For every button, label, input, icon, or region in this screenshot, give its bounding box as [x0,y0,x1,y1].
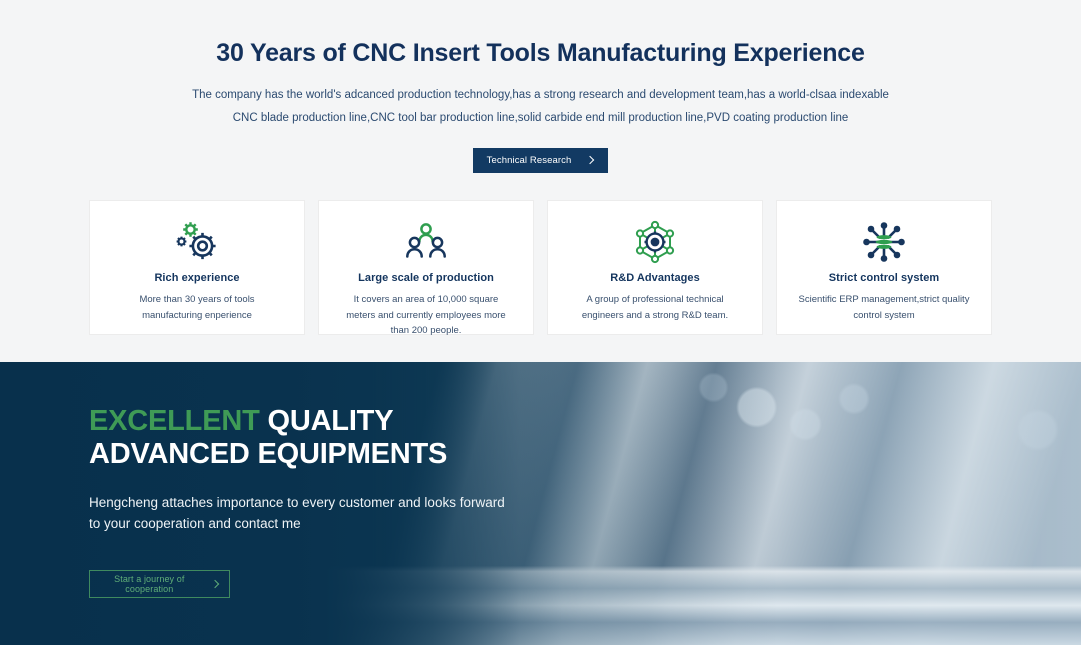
page-title: 30 Years of CNC Insert Tools Manufacturi… [0,38,1081,68]
feature-card-description: More than 30 years of tools manufacturin… [104,292,290,323]
start-journey-label: Start a journey of cooperation [101,574,198,594]
start-journey-button[interactable]: Start a journey of cooperation [89,570,230,598]
chevron-right-icon [212,580,218,588]
section-subtitle: The company has the world's adcanced pro… [185,84,897,130]
gears-icon [104,219,290,265]
feature-card[interactable]: R&D Advantages A group of professional t… [547,200,763,335]
chevron-right-icon [587,156,596,165]
technical-research-label: Technical Research [487,155,572,166]
hero-headline-accent: EXCELLENT [89,405,260,437]
feature-card-description: Scientific ERP management,strict quality… [791,292,977,323]
hero-banner: EXCELLENT QUALITY ADVANCED EQUIPMENTS He… [0,362,1081,645]
feature-card-title: Strict control system [791,272,977,284]
radial-nodes-icon [791,219,977,265]
hero-paragraph: Hengcheng attaches importance to every c… [89,492,509,535]
features-section: 30 Years of CNC Insert Tools Manufacturi… [0,0,1081,362]
people-group-icon [333,219,519,265]
feature-card[interactable]: Large scale of production It covers an a… [318,200,534,335]
feature-card-description: A group of professional technical engine… [562,292,748,323]
feature-card[interactable]: Strict control system Scientific ERP man… [776,200,992,335]
feature-card-list: Rich experience More than 30 years of to… [89,200,992,335]
feature-card[interactable]: Rich experience More than 30 years of to… [89,200,305,335]
hero-headline-line2: ADVANCED EQUIPMENTS [89,438,447,470]
feature-card-title: Rich experience [104,272,290,284]
feature-card-description: It covers an area of 10,000 square meter… [333,292,519,339]
feature-card-title: R&D Advantages [562,272,748,284]
feature-card-title: Large scale of production [333,272,519,284]
molecule-network-icon [562,219,748,265]
hero-headline-rest: QUALITY [260,405,394,437]
technical-research-button[interactable]: Technical Research [473,148,609,173]
hero-headline: EXCELLENT QUALITY ADVANCED EQUIPMENTS [89,405,509,472]
